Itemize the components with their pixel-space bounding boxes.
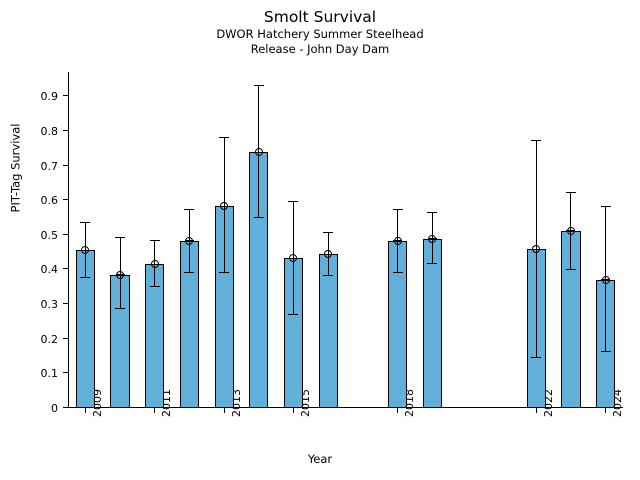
error-cap-upper-2024 — [601, 206, 611, 207]
x-axis-tick — [224, 408, 225, 413]
error-cap-lower-2018 — [393, 272, 403, 273]
error-cap-lower-2022 — [531, 357, 541, 358]
plot-area: 00.10.20.30.40.50.60.70.80.9 20092011201… — [68, 72, 623, 408]
data-point-marker-2023 — [567, 227, 575, 235]
error-cap-upper-2019 — [427, 212, 437, 213]
chart-subtitle-line1: DWOR Hatchery Summer Steelhead — [0, 27, 640, 42]
error-cap-lower-2012 — [184, 272, 194, 273]
error-cap-lower-2014 — [254, 217, 264, 218]
y-axis-tick — [63, 199, 68, 200]
y-axis-tick-label: 0 — [12, 403, 58, 414]
error-cap-upper-2010 — [115, 237, 125, 238]
chart-title-block: Smolt Survival DWOR Hatchery Summer Stee… — [0, 8, 640, 57]
y-axis-tick — [63, 165, 68, 166]
y-axis-tick-label: 0.1 — [12, 368, 58, 379]
y-axis-tick-label: 0.7 — [12, 161, 58, 172]
error-cap-upper-2018 — [393, 209, 403, 210]
y-axis-tick — [63, 407, 68, 408]
error-cap-lower-2013 — [219, 272, 229, 273]
figure-canvas: Smolt Survival DWOR Hatchery Summer Stee… — [0, 0, 640, 480]
y-axis-tick-label: 0.8 — [12, 126, 58, 137]
y-axis-tick — [63, 95, 68, 96]
x-axis-tick — [536, 408, 537, 413]
bar-2016 — [319, 254, 338, 408]
error-cap-lower-2023 — [566, 269, 576, 270]
data-point-marker-2019 — [428, 235, 436, 243]
x-axis-tick — [85, 408, 86, 413]
chart-subtitle-line2: Release - John Day Dam — [0, 42, 640, 57]
error-cap-upper-2022 — [531, 140, 541, 141]
error-cap-upper-2015 — [288, 201, 298, 202]
x-axis-tick — [397, 408, 398, 413]
y-axis-tick — [63, 130, 68, 131]
y-axis-spine — [68, 72, 69, 408]
y-axis-tick — [63, 338, 68, 339]
error-cap-upper-2023 — [566, 192, 576, 193]
error-cap-lower-2011 — [150, 286, 160, 287]
data-point-marker-2010 — [116, 271, 124, 279]
x-axis-tick — [293, 408, 294, 413]
y-axis-tick — [63, 372, 68, 373]
error-cap-lower-2016 — [323, 275, 333, 276]
error-cap-lower-2024 — [601, 351, 611, 352]
error-cap-lower-2015 — [288, 314, 298, 315]
y-axis-tick — [63, 234, 68, 235]
y-axis-tick-label: 0.3 — [12, 299, 58, 310]
x-axis-title: Year — [0, 452, 640, 466]
error-cap-upper-2011 — [150, 240, 160, 241]
error-cap-upper-2012 — [184, 209, 194, 210]
y-axis-tick-label: 0.9 — [12, 91, 58, 102]
error-cap-lower-2009 — [80, 277, 90, 278]
x-axis-tick — [154, 408, 155, 413]
data-point-marker-2018 — [394, 237, 402, 245]
y-axis-tick — [63, 268, 68, 269]
error-cap-upper-2013 — [219, 137, 229, 138]
y-axis-tick-label: 0.5 — [12, 230, 58, 241]
y-axis-tick-label: 0.2 — [12, 334, 58, 345]
y-axis-tick-label: 0.4 — [12, 264, 58, 275]
data-point-marker-2011 — [151, 260, 159, 268]
data-point-marker-2024 — [602, 276, 610, 284]
y-axis-tick — [63, 303, 68, 304]
error-cap-lower-2010 — [115, 308, 125, 309]
y-axis-tick-label: 0.6 — [12, 195, 58, 206]
x-axis-tick — [605, 408, 606, 413]
error-cap-upper-2009 — [80, 222, 90, 223]
error-cap-upper-2016 — [323, 232, 333, 233]
error-cap-upper-2014 — [254, 85, 264, 86]
error-cap-lower-2019 — [427, 263, 437, 264]
chart-title: Smolt Survival — [0, 8, 640, 27]
